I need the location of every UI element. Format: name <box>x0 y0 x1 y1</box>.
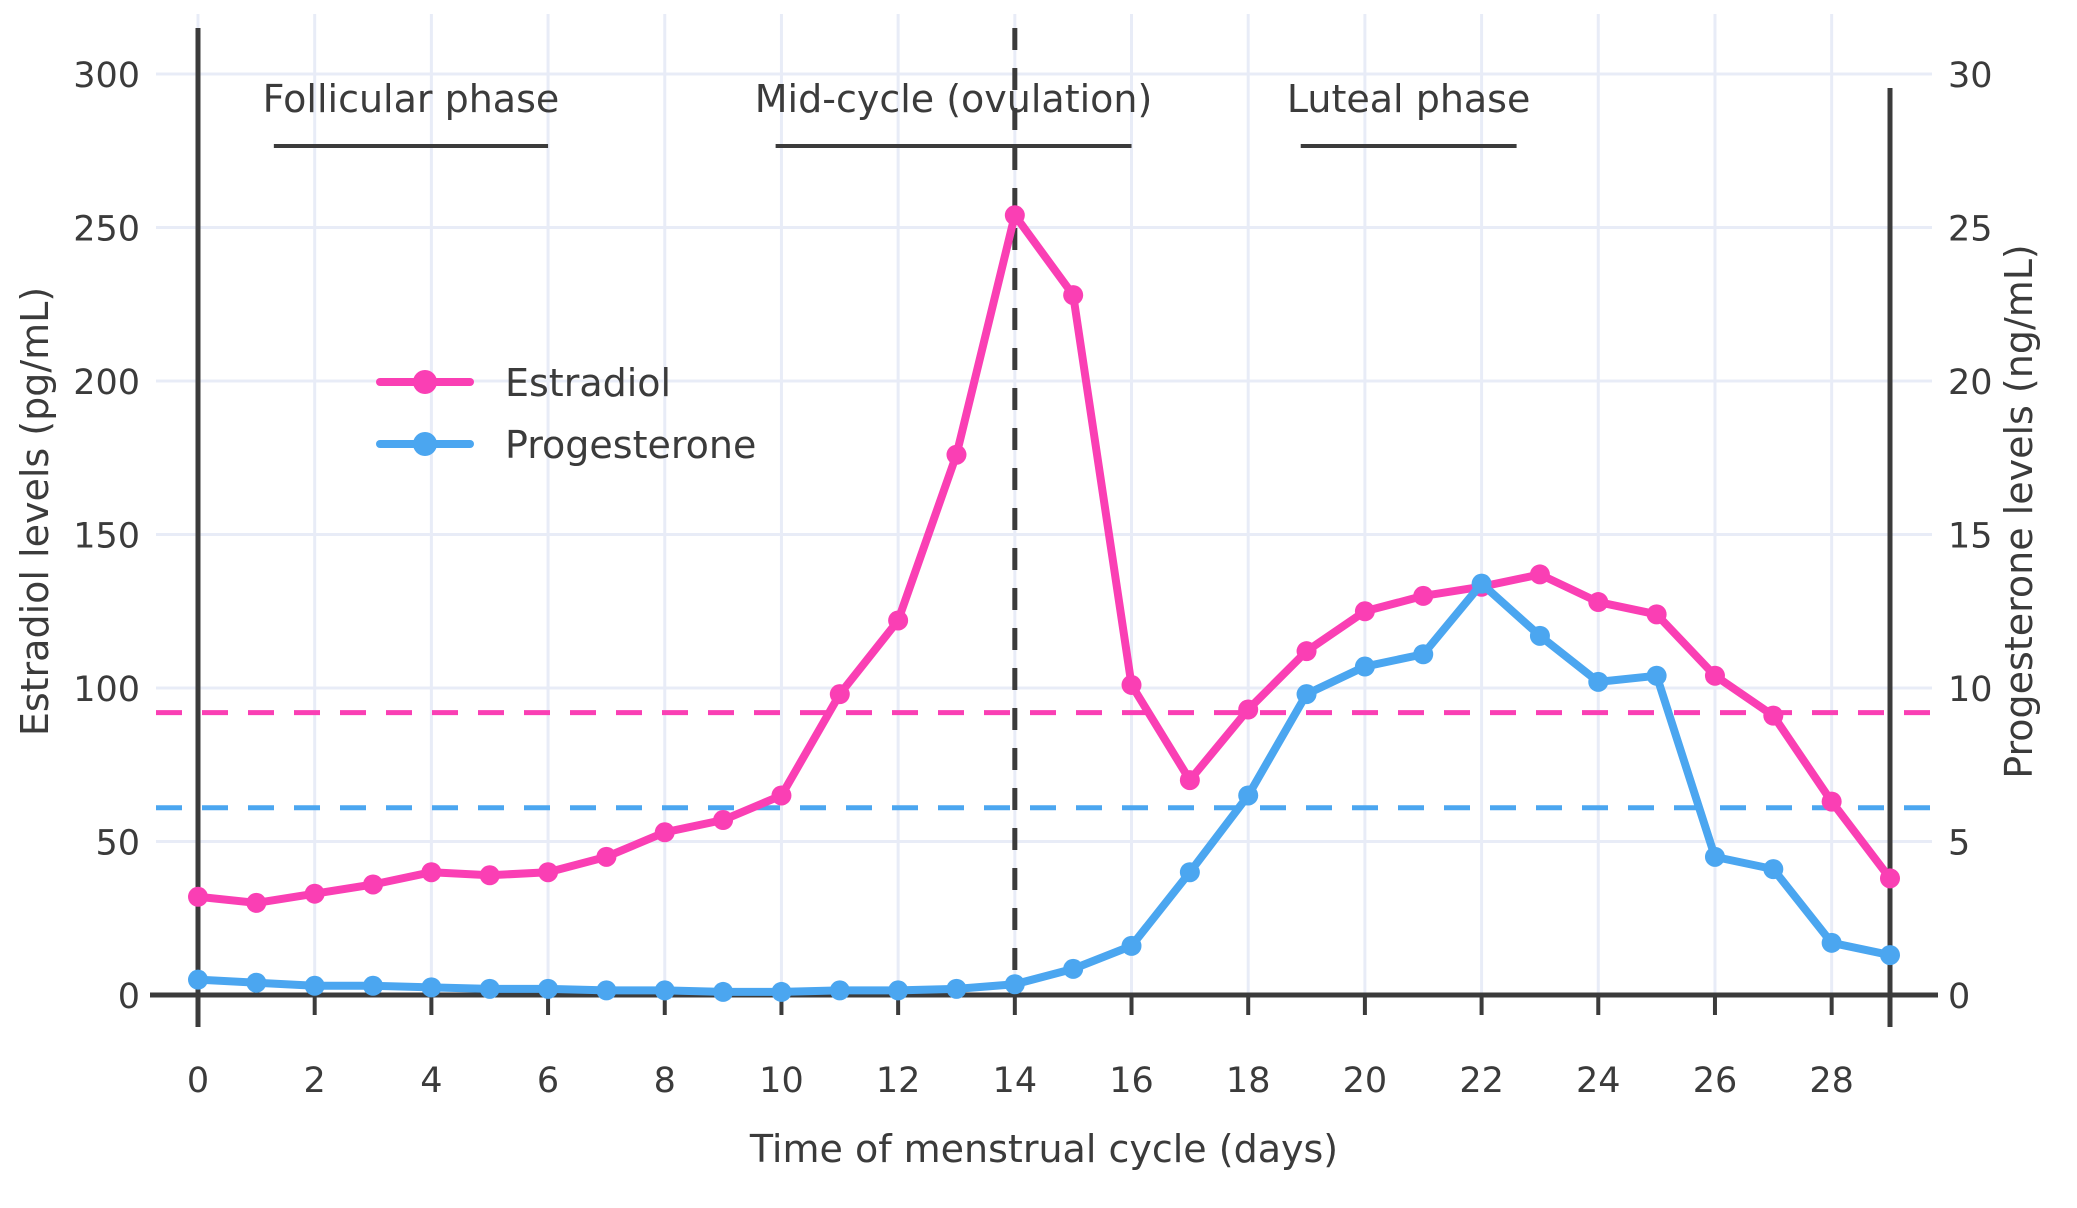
data-point-progesterone[interactable] <box>1413 644 1433 664</box>
data-point-progesterone[interactable] <box>1822 933 1842 953</box>
data-point-progesterone[interactable] <box>713 982 733 1002</box>
line-chart: 0246810121416182022242628050100150200250… <box>0 0 2077 1208</box>
data-point-progesterone[interactable] <box>1180 862 1200 882</box>
x-tick-label: 0 <box>187 1061 209 1101</box>
x-tick-label: 12 <box>876 1061 921 1101</box>
data-point-estradiol[interactable] <box>888 610 908 630</box>
y-tick-label-right: 10 <box>1948 670 1993 710</box>
data-point-progesterone[interactable] <box>771 982 791 1002</box>
x-tick-label: 28 <box>1809 1061 1854 1101</box>
data-point-progesterone[interactable] <box>363 976 383 996</box>
x-tick-label: 24 <box>1576 1061 1621 1101</box>
x-tick-label: 16 <box>1109 1061 1154 1101</box>
data-point-progesterone[interactable] <box>1063 959 1083 979</box>
data-point-estradiol[interactable] <box>713 810 733 830</box>
data-point-progesterone[interactable] <box>1588 672 1608 692</box>
y-axis-title-left: Estradiol levels (pg/mL) <box>13 287 57 736</box>
data-point-estradiol[interactable] <box>1647 604 1667 624</box>
data-point-progesterone[interactable] <box>596 980 616 1000</box>
data-point-estradiol[interactable] <box>830 684 850 704</box>
data-point-estradiol[interactable] <box>363 874 383 894</box>
x-tick-label: 26 <box>1693 1061 1738 1101</box>
data-point-estradiol[interactable] <box>1705 666 1725 686</box>
series-line-estradiol <box>198 215 1890 903</box>
x-tick-label: 6 <box>537 1061 559 1101</box>
data-point-estradiol[interactable] <box>1763 706 1783 726</box>
data-point-estradiol[interactable] <box>1122 675 1142 695</box>
x-tick-label: 2 <box>304 1061 326 1101</box>
data-point-estradiol[interactable] <box>1588 592 1608 612</box>
data-point-progesterone[interactable] <box>830 980 850 1000</box>
x-tick-label: 4 <box>420 1061 442 1101</box>
y-axis-title-right: Progesterone levels (ng/mL) <box>1997 244 2041 779</box>
data-point-progesterone[interactable] <box>655 980 675 1000</box>
data-point-estradiol[interactable] <box>771 785 791 805</box>
data-point-estradiol[interactable] <box>538 862 558 882</box>
y-tick-label-left: 0 <box>118 977 140 1017</box>
data-point-estradiol[interactable] <box>655 822 675 842</box>
data-point-progesterone[interactable] <box>246 973 266 993</box>
data-point-estradiol[interactable] <box>246 893 266 913</box>
y-tick-label-right: 20 <box>1948 363 1993 403</box>
data-point-progesterone[interactable] <box>480 979 500 999</box>
x-axis-title: Time of menstrual cycle (days) <box>749 1127 1338 1171</box>
data-point-estradiol[interactable] <box>421 862 441 882</box>
data-point-estradiol[interactable] <box>1530 564 1550 584</box>
data-point-progesterone[interactable] <box>1005 974 1025 994</box>
data-point-estradiol[interactable] <box>1238 700 1258 720</box>
legend-marker-progesterone <box>413 432 437 456</box>
data-point-estradiol[interactable] <box>1063 285 1083 305</box>
y-tick-label-right: 25 <box>1948 210 1993 250</box>
data-point-progesterone[interactable] <box>1880 945 1900 965</box>
data-point-estradiol[interactable] <box>305 884 325 904</box>
data-point-progesterone[interactable] <box>1297 684 1317 704</box>
data-point-progesterone[interactable] <box>1530 626 1550 646</box>
y-tick-label-left: 50 <box>95 824 140 864</box>
data-point-progesterone[interactable] <box>305 976 325 996</box>
y-tick-label-right: 15 <box>1948 517 1993 557</box>
data-point-estradiol[interactable] <box>946 445 966 465</box>
legend-marker-estradiol <box>413 370 437 394</box>
y-tick-label-right: 5 <box>1948 824 1970 864</box>
data-point-progesterone[interactable] <box>1122 936 1142 956</box>
annotation-luteal-phase: Luteal phase <box>1287 77 1530 121</box>
data-point-estradiol[interactable] <box>1413 586 1433 606</box>
data-point-progesterone[interactable] <box>538 979 558 999</box>
data-point-estradiol[interactable] <box>1005 205 1025 225</box>
y-tick-label-right: 0 <box>1948 977 1970 1017</box>
data-point-progesterone[interactable] <box>1472 574 1492 594</box>
data-point-progesterone[interactable] <box>1238 785 1258 805</box>
data-point-estradiol[interactable] <box>1297 641 1317 661</box>
annotation-follicular-phase: Follicular phase <box>263 77 560 121</box>
data-point-progesterone[interactable] <box>888 980 908 1000</box>
data-point-estradiol[interactable] <box>1180 770 1200 790</box>
x-tick-label: 22 <box>1459 1061 1504 1101</box>
x-tick-label: 10 <box>759 1061 804 1101</box>
y-tick-label-left: 300 <box>73 56 140 96</box>
data-point-estradiol[interactable] <box>596 847 616 867</box>
data-point-progesterone[interactable] <box>1705 847 1725 867</box>
data-point-estradiol[interactable] <box>1822 792 1842 812</box>
data-point-estradiol[interactable] <box>1880 868 1900 888</box>
data-point-progesterone[interactable] <box>1355 657 1375 677</box>
y-tick-label-left: 200 <box>73 363 140 403</box>
x-tick-label: 18 <box>1226 1061 1271 1101</box>
x-tick-label: 14 <box>993 1061 1038 1101</box>
legend-label-estradiol: Estradiol <box>505 361 671 405</box>
y-tick-label-left: 150 <box>73 517 140 557</box>
y-tick-label-left: 100 <box>73 670 140 710</box>
legend-label-progesterone: Progesterone <box>505 423 756 467</box>
annotation-mid-cycle-phase: Mid-cycle (ovulation) <box>755 77 1153 121</box>
data-point-progesterone[interactable] <box>1647 666 1667 686</box>
data-point-progesterone[interactable] <box>946 979 966 999</box>
y-tick-label-right: 30 <box>1948 56 1993 96</box>
y-tick-label-left: 250 <box>73 210 140 250</box>
data-point-estradiol[interactable] <box>480 865 500 885</box>
data-point-estradiol[interactable] <box>188 887 208 907</box>
data-point-estradiol[interactable] <box>1355 601 1375 621</box>
data-point-progesterone[interactable] <box>188 970 208 990</box>
x-tick-label: 20 <box>1343 1061 1388 1101</box>
data-point-progesterone[interactable] <box>421 977 441 997</box>
chart-container: 0246810121416182022242628050100150200250… <box>0 0 2077 1208</box>
x-tick-label: 8 <box>654 1061 676 1101</box>
series-line-progesterone <box>198 584 1890 992</box>
data-point-progesterone[interactable] <box>1763 859 1783 879</box>
